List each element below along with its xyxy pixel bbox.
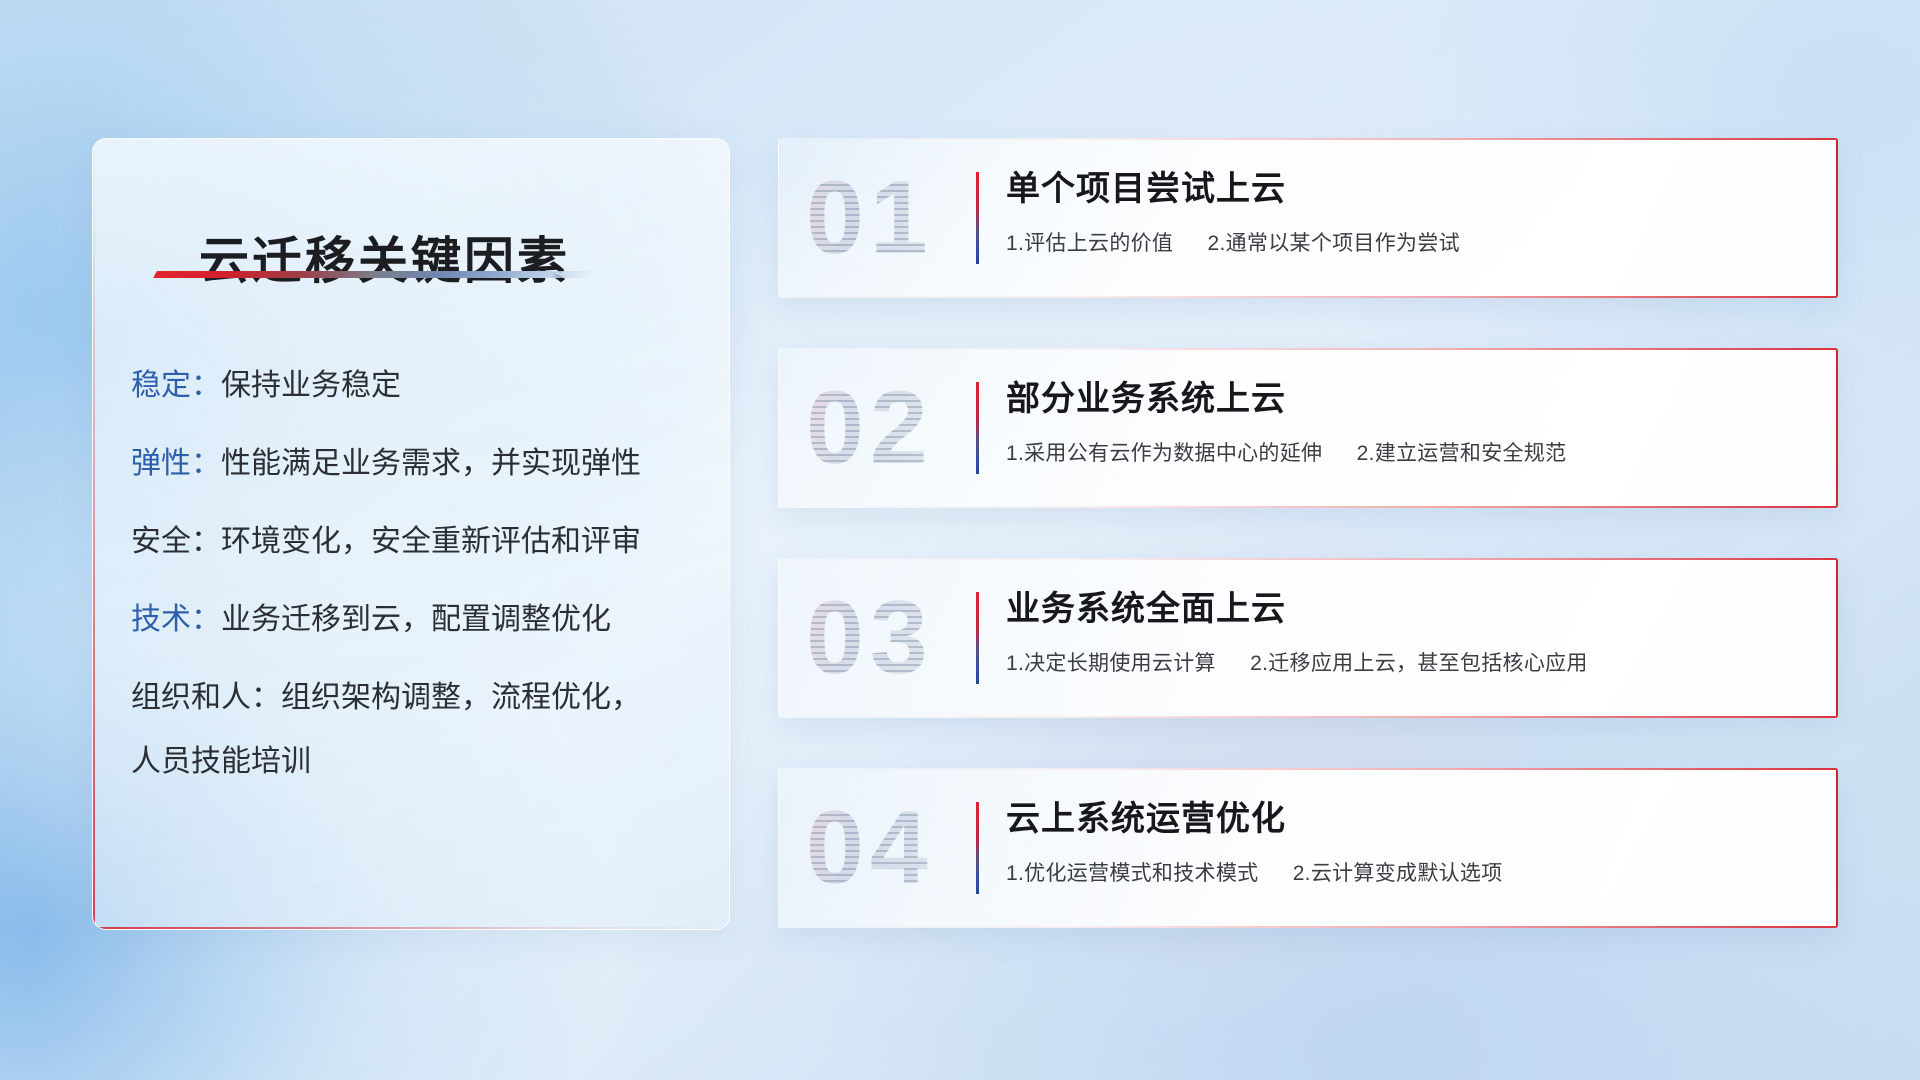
card-title: 单个项目尝试上云 (1006, 170, 1798, 209)
card-description-part-1: 1.决定长期使用云计算 (1006, 652, 1216, 675)
card-left-highlight (778, 348, 779, 508)
title-underline-gradient (153, 271, 597, 278)
card-bottom-accent (778, 926, 1838, 928)
list-item-value-continued: 人员技能培训 (131, 747, 681, 777)
card-number-watermark: 01 (806, 166, 934, 270)
list-item-key: 弹性： (131, 449, 221, 479)
card-body: 部分业务系统上云 1.采用公有云作为数据中心的延伸 2.建立运营和安全规范 (1006, 380, 1798, 467)
card-top-accent (778, 558, 1838, 560)
list-item-key: 组织和人： (131, 683, 281, 713)
key-factors-panel: 云迁移关键因素 稳定： 保持业务稳定 弹性： 性能满足业务需求，并实现弹性 安全… (92, 138, 730, 930)
card-right-accent (1836, 768, 1838, 928)
card-right-accent (1836, 558, 1838, 718)
card-number-watermark: 02 (806, 376, 934, 480)
card-description: 1.优化运营模式和技术模式 2.云计算变成默认选项 (1006, 857, 1798, 887)
card-number-watermark: 04 (806, 796, 934, 900)
card-title: 云上系统运营优化 (1006, 800, 1798, 839)
list-item-value: 业务迁移到云，配置调整优化 (221, 605, 611, 635)
card-body: 云上系统运营优化 1.优化运营模式和技术模式 2.云计算变成默认选项 (1006, 800, 1798, 887)
card-top-accent (778, 138, 1838, 140)
card-title: 部分业务系统上云 (1006, 380, 1798, 419)
list-item: 稳定： 保持业务稳定 (131, 371, 681, 401)
slide-canvas: 云迁移关键因素 稳定： 保持业务稳定 弹性： 性能满足业务需求，并实现弹性 安全… (0, 0, 1920, 1080)
list-item: 技术： 业务迁移到云，配置调整优化 (131, 605, 681, 635)
card-right-accent (1836, 138, 1838, 298)
list-item-key: 稳定： (131, 371, 221, 401)
card-description-part-1: 1.优化运营模式和技术模式 (1006, 862, 1258, 885)
card-bottom-accent (778, 506, 1838, 508)
stage-card[interactable]: 04 云上系统运营优化 1.优化运营模式和技术模式 2.云计算变成默认选项 (778, 768, 1838, 928)
key-factors-list: 稳定： 保持业务稳定 弹性： 性能满足业务需求，并实现弹性 安全： 环境变化，安… (93, 371, 729, 777)
card-description: 1.决定长期使用云计算 2.迁移应用上云，甚至包括核心应用 (1006, 647, 1798, 677)
list-item-key: 安全： (131, 527, 221, 557)
list-item: 弹性： 性能满足业务需求，并实现弹性 (131, 449, 681, 479)
card-description-part-2: 2.云计算变成默认选项 (1293, 862, 1503, 885)
list-item-value: 环境变化，安全重新评估和评审 (221, 527, 641, 557)
card-body: 单个项目尝试上云 1.评估上云的价值 2.通常以某个项目作为尝试 (1006, 170, 1798, 257)
card-title: 业务系统全面上云 (1006, 590, 1798, 629)
page-title: 云迁移关键因素 (199, 221, 570, 293)
stage-card[interactable]: 03 业务系统全面上云 1.决定长期使用云计算 2.迁移应用上云，甚至包括核心应… (778, 558, 1838, 718)
card-accent-bar (976, 592, 979, 684)
card-top-accent (778, 768, 1838, 770)
list-item: 组织和人： 组织架构调整，流程优化， (131, 683, 681, 713)
card-left-highlight (778, 138, 779, 298)
stage-card[interactable]: 01 单个项目尝试上云 1.评估上云的价值 2.通常以某个项目作为尝试 (778, 138, 1838, 298)
card-top-accent (778, 348, 1838, 350)
card-description-part-2: 2.通常以某个项目作为尝试 (1208, 232, 1460, 255)
card-description-part-2: 2.建立运营和安全规范 (1357, 442, 1567, 465)
card-bottom-accent (778, 296, 1838, 298)
card-description-part-1: 1.采用公有云作为数据中心的延伸 (1006, 442, 1322, 465)
card-accent-bar (976, 382, 979, 474)
card-body: 业务系统全面上云 1.决定长期使用云计算 2.迁移应用上云，甚至包括核心应用 (1006, 590, 1798, 677)
stage-card[interactable]: 02 部分业务系统上云 1.采用公有云作为数据中心的延伸 2.建立运营和安全规范 (778, 348, 1838, 508)
card-description: 1.评估上云的价值 2.通常以某个项目作为尝试 (1006, 227, 1798, 257)
card-description-part-1: 1.评估上云的价值 (1006, 232, 1173, 255)
card-description: 1.采用公有云作为数据中心的延伸 2.建立运营和安全规范 (1006, 437, 1798, 467)
card-description-part-2: 2.迁移应用上云，甚至包括核心应用 (1250, 652, 1588, 675)
card-accent-bar (976, 802, 979, 894)
list-item-value: 性能满足业务需求，并实现弹性 (221, 449, 641, 479)
stage-cards-list: 01 单个项目尝试上云 1.评估上云的价值 2.通常以某个项目作为尝试 02 部… (778, 138, 1838, 928)
card-accent-bar (976, 172, 979, 264)
list-item-value: 保持业务稳定 (221, 371, 401, 401)
card-right-accent (1836, 348, 1838, 508)
panel-bottom-accent (93, 927, 729, 929)
card-bottom-accent (778, 716, 1838, 718)
list-item-key: 技术： (131, 605, 221, 635)
card-left-highlight (778, 558, 779, 718)
card-number-watermark: 03 (806, 586, 934, 690)
list-item-value: 组织架构调整，流程优化， (281, 683, 641, 713)
card-left-highlight (778, 768, 779, 928)
list-item: 安全： 环境变化，安全重新评估和评审 (131, 527, 681, 557)
